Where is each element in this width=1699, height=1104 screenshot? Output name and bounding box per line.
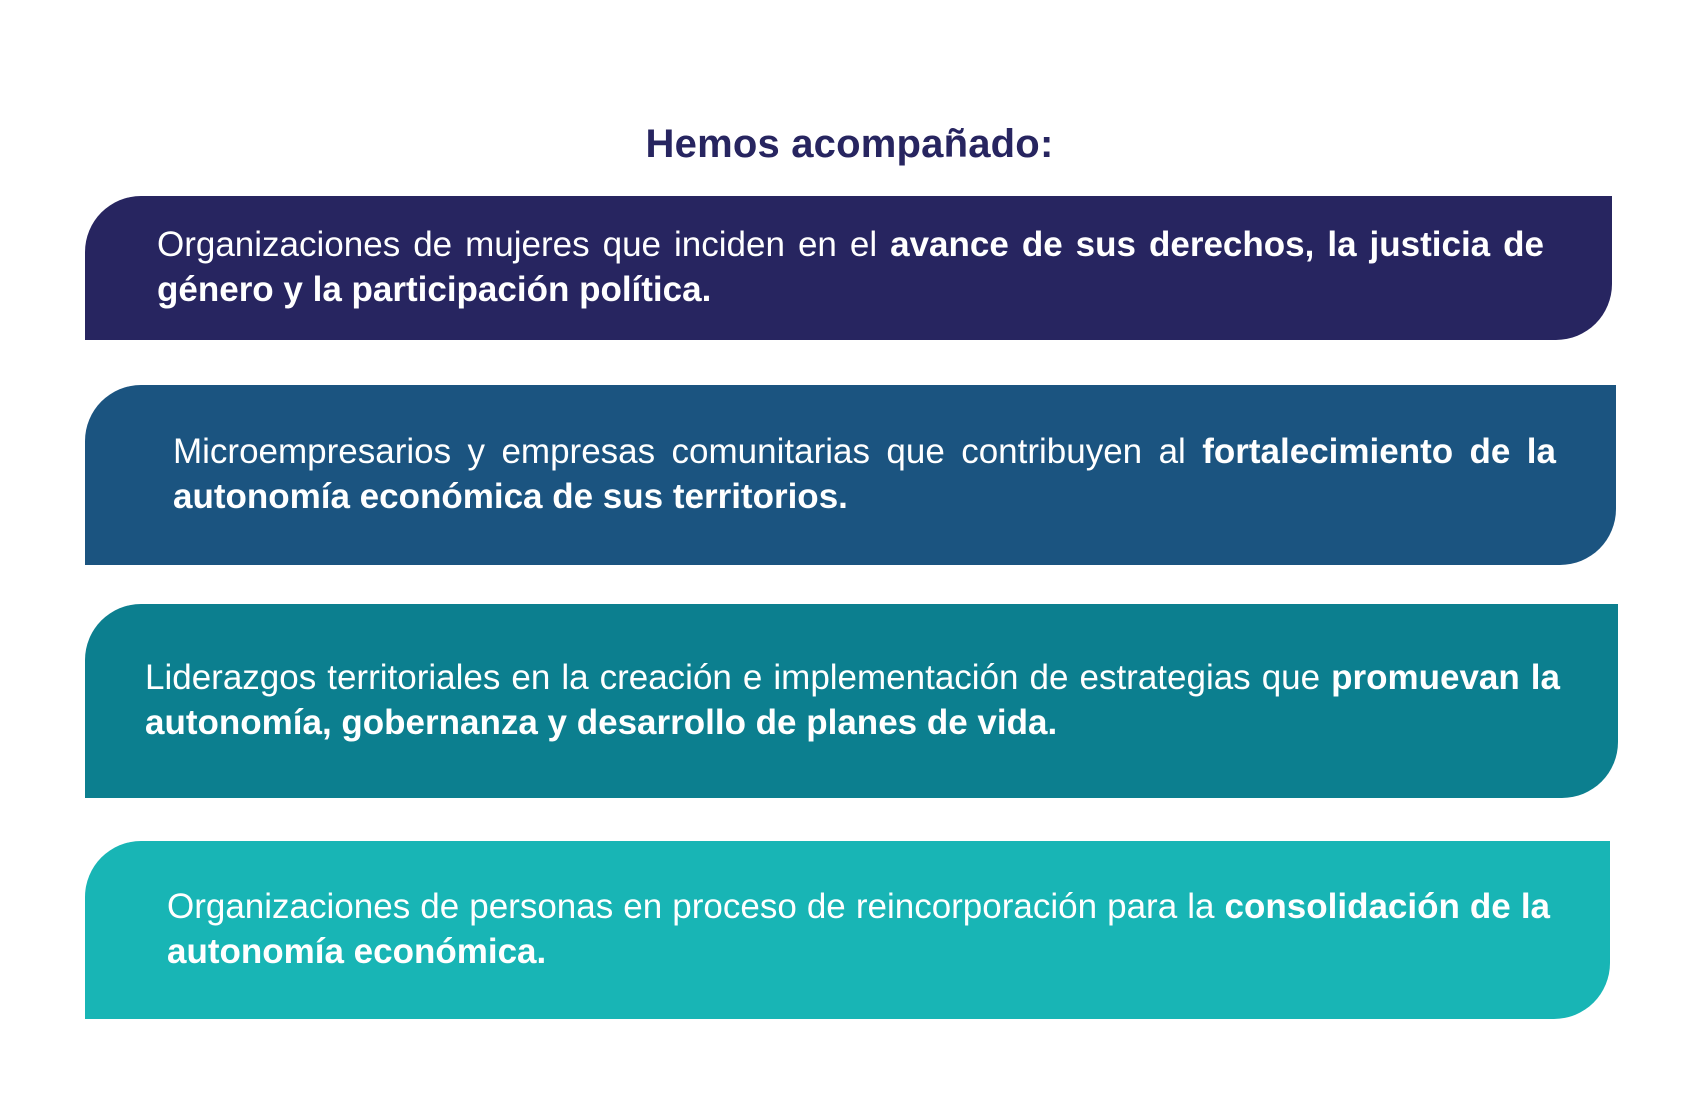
card-reincorporacion: Organizaciones de personas en proceso de… — [85, 841, 1610, 1019]
card-text: Liderazgos territoriales en la creación … — [145, 656, 1560, 746]
slide-root: Hemos acompañado: Organizaciones de muje… — [0, 0, 1699, 1104]
page-title: Hemos acompañado: — [0, 122, 1699, 167]
card-text-regular: Liderazgos territoriales en la creación … — [145, 658, 1331, 697]
card-text-regular: Microempresarios y empresas comunitarias… — [173, 432, 1202, 471]
card-text: Organizaciones de personas en proceso de… — [167, 885, 1550, 975]
card-text: Organizaciones de mujeres que inciden en… — [157, 223, 1544, 313]
card-microempresarios: Microempresarios y empresas comunitarias… — [85, 385, 1616, 565]
card-text: Microempresarios y empresas comunitarias… — [173, 430, 1556, 520]
card-text-regular: Organizaciones de mujeres que inciden en… — [157, 225, 890, 264]
card-text-regular: Organizaciones de personas en proceso de… — [167, 887, 1225, 926]
card-liderazgos-territoriales: Liderazgos territoriales en la creación … — [85, 604, 1618, 798]
card-organizaciones-de-mujeres: Organizaciones de mujeres que inciden en… — [85, 196, 1612, 340]
